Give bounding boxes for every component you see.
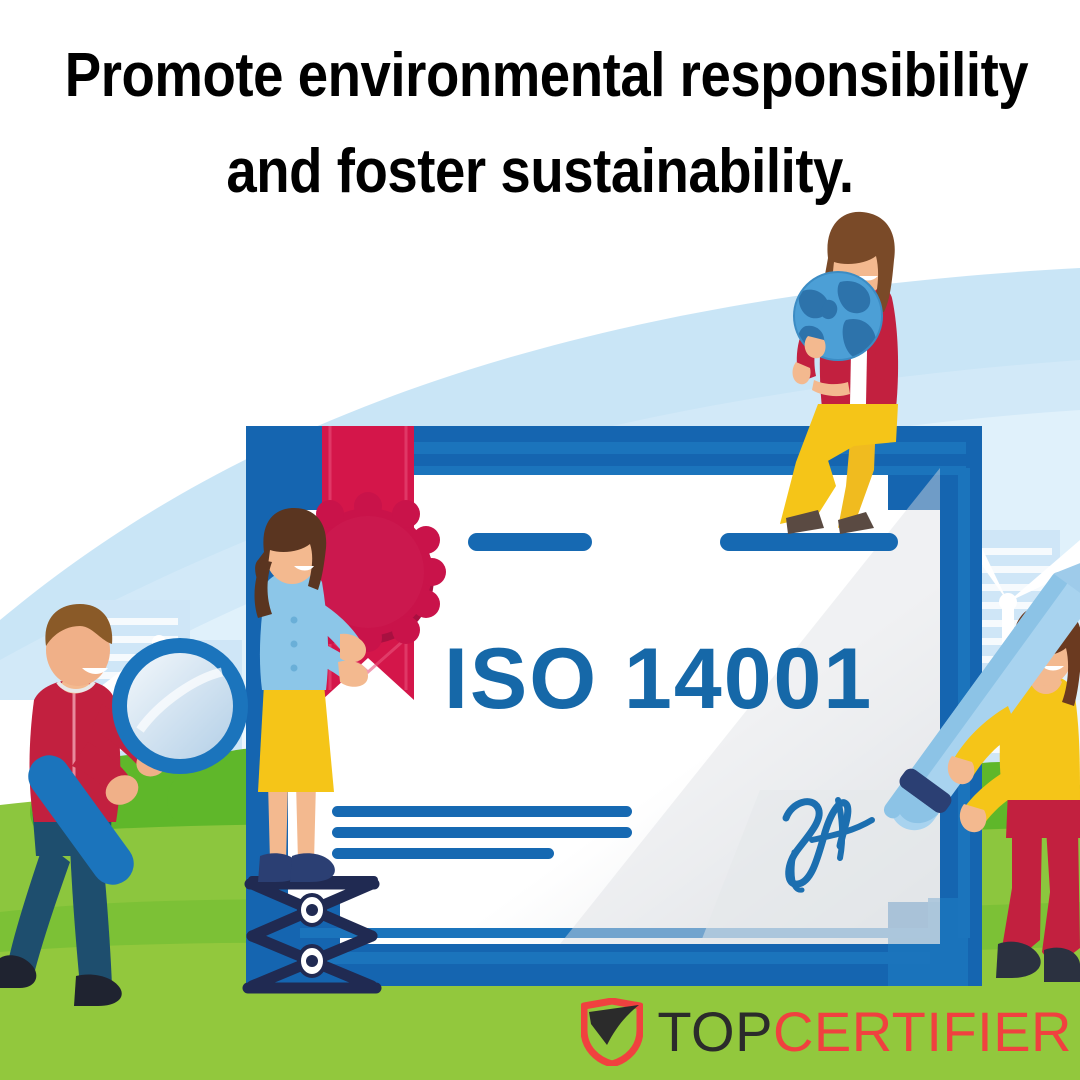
text-line-3	[332, 848, 554, 859]
placeholder-bar-left	[468, 533, 592, 551]
logo-wordmark: TOPCERTIFIER	[657, 1004, 1072, 1060]
text-line-1	[332, 806, 632, 817]
certificate-title-svg: ISO 14001	[444, 631, 873, 727]
certificate: ISO 14001	[246, 426, 982, 986]
placeholder-bar-right	[720, 533, 898, 551]
logo-text-top: TOP	[657, 1000, 773, 1063]
shield-check-icon	[581, 998, 643, 1066]
poster-canvas: ISO 14001	[0, 0, 1080, 1080]
inner-border-bottom-1	[300, 952, 930, 964]
logo-text-certifier: CERTIFIER	[773, 1000, 1072, 1063]
text-line-2	[332, 827, 632, 838]
illustration-scene: ISO 14001	[0, 0, 1080, 1080]
topcertifier-logo[interactable]: TOPCERTIFIER	[581, 998, 1072, 1066]
inner-border-top-2	[356, 466, 966, 475]
